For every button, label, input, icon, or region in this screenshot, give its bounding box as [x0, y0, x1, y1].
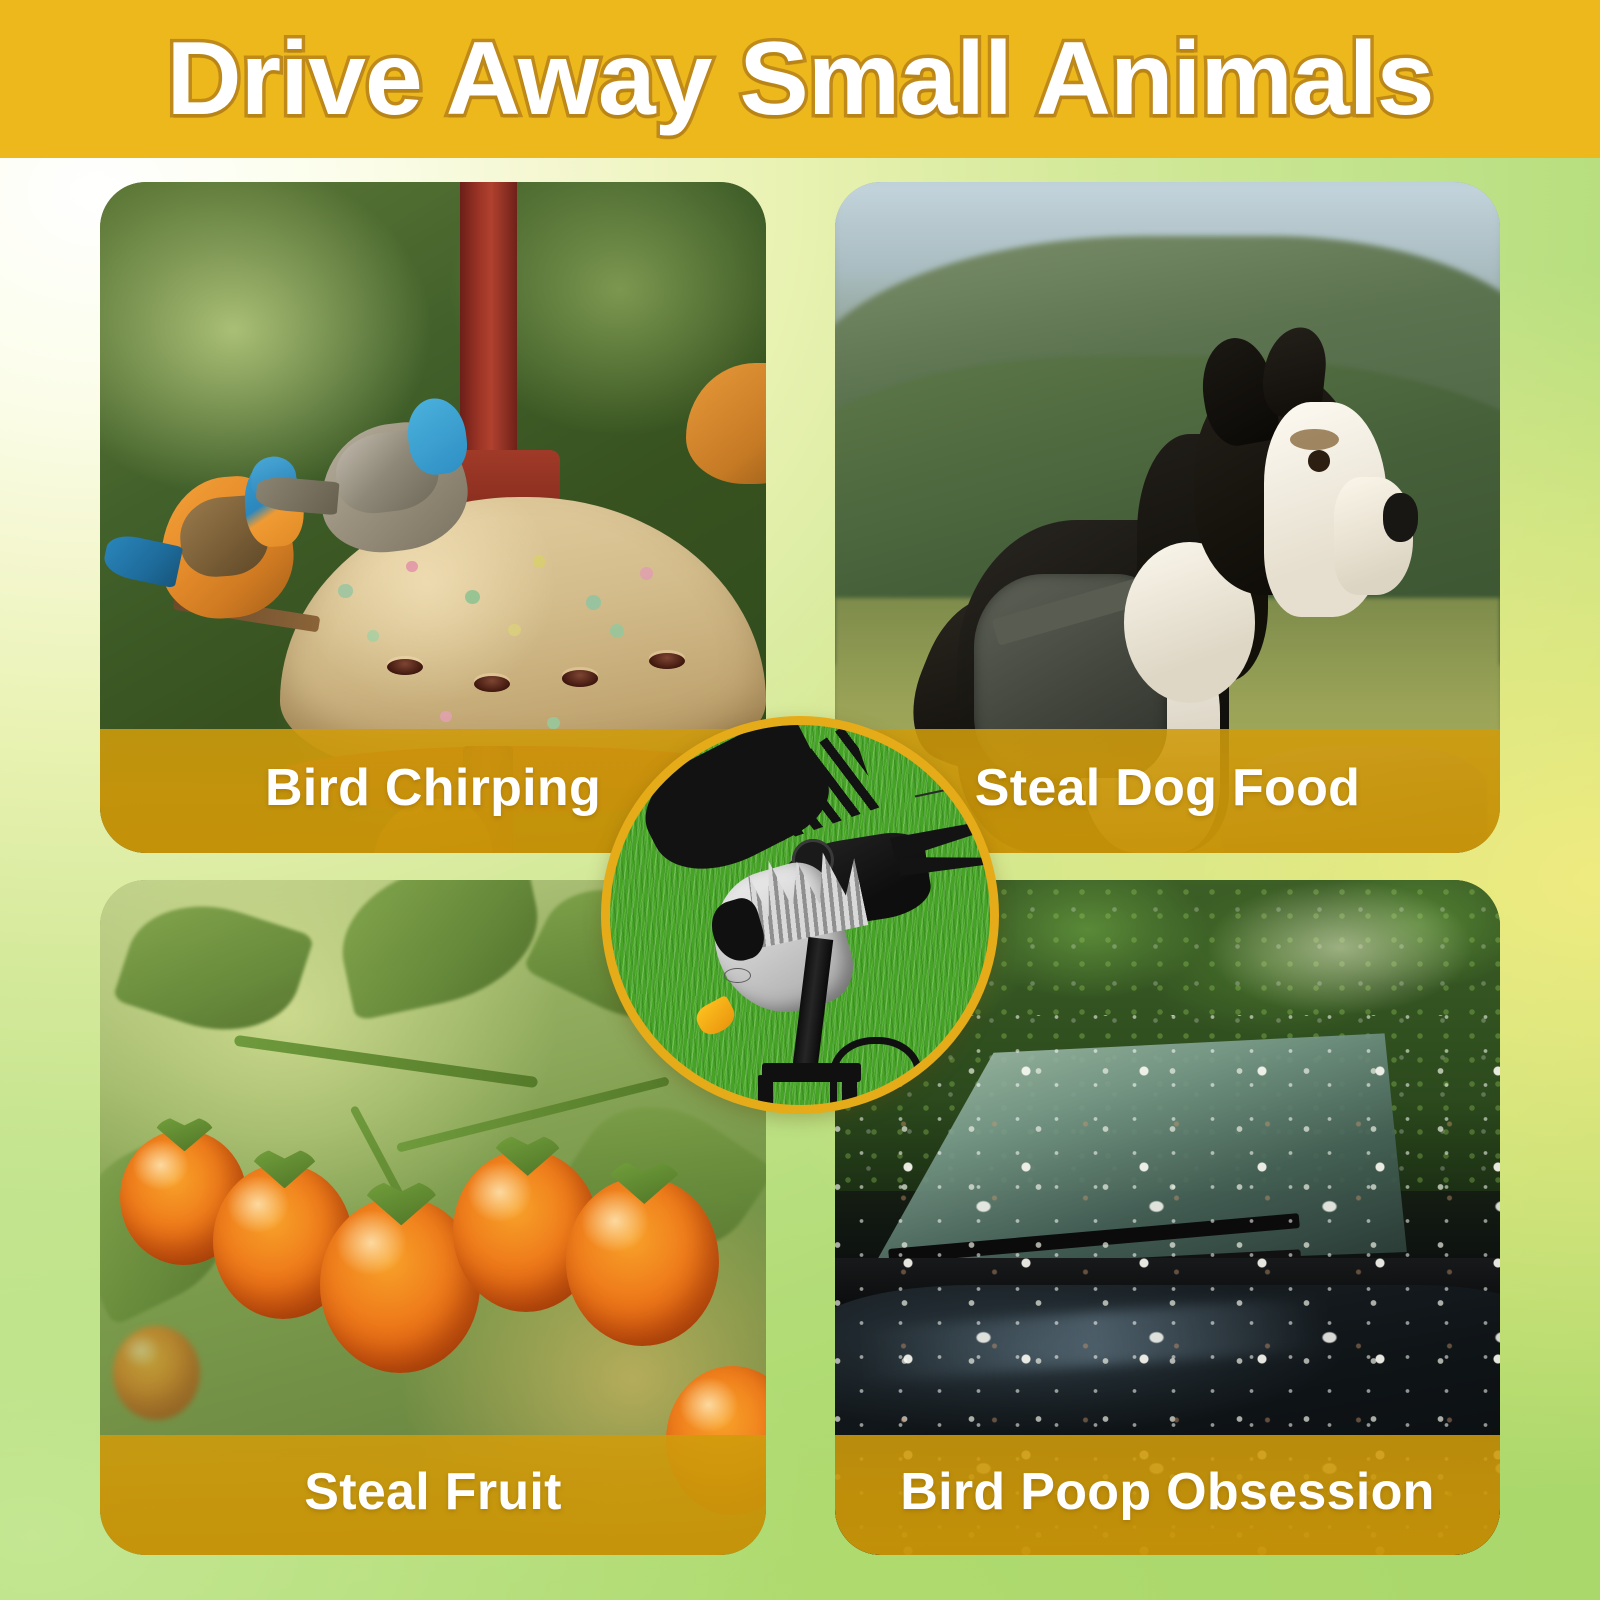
card-label-text: Bird Chirping	[265, 758, 601, 818]
feeder-port-icon	[387, 659, 423, 675]
feeder-port-icon	[474, 676, 510, 692]
seed-speck	[465, 590, 481, 604]
tomato-icon	[113, 1326, 200, 1421]
seed-speck	[440, 711, 452, 723]
decoy-ground-spike-icon	[842, 1075, 857, 1105]
card-label-bar: Steal Fruit	[100, 1435, 766, 1555]
seed-speck	[508, 624, 521, 636]
card-label-text: Steal Dog Food	[975, 758, 1361, 818]
sky-glow	[1207, 880, 1473, 1015]
leaf-icon	[112, 883, 314, 1052]
seed-speck	[586, 595, 601, 609]
seed-speck	[547, 717, 560, 730]
seed-speck	[406, 561, 418, 573]
seed-speck	[338, 584, 353, 598]
tomato-icon	[566, 1177, 719, 1346]
seed-speck	[610, 624, 624, 637]
feeder-port-icon	[562, 670, 598, 686]
card-label-text: Bird Poop Obsession	[900, 1462, 1434, 1522]
seed-speck	[640, 567, 654, 580]
card-label-text: Steal Fruit	[304, 1462, 562, 1522]
product-badge[interactable]	[601, 716, 999, 1114]
card-label-bar: Bird Poop Obsession	[835, 1435, 1500, 1555]
decoy-ground-spike-icon	[758, 1075, 773, 1105]
bird-illustration	[313, 415, 474, 559]
seed-speck	[367, 630, 379, 642]
header-banner: Drive Away Small Animals	[0, 0, 1600, 158]
vine-icon	[234, 1034, 539, 1087]
seed-speck	[533, 555, 546, 568]
leaf-icon	[328, 880, 551, 1021]
feeder-port-icon	[649, 653, 685, 669]
product-badge-photo	[610, 725, 990, 1105]
page-title: Drive Away Small Animals	[147, 27, 1454, 131]
bird-illustration	[686, 363, 766, 484]
decoy-eye-icon	[724, 968, 751, 983]
